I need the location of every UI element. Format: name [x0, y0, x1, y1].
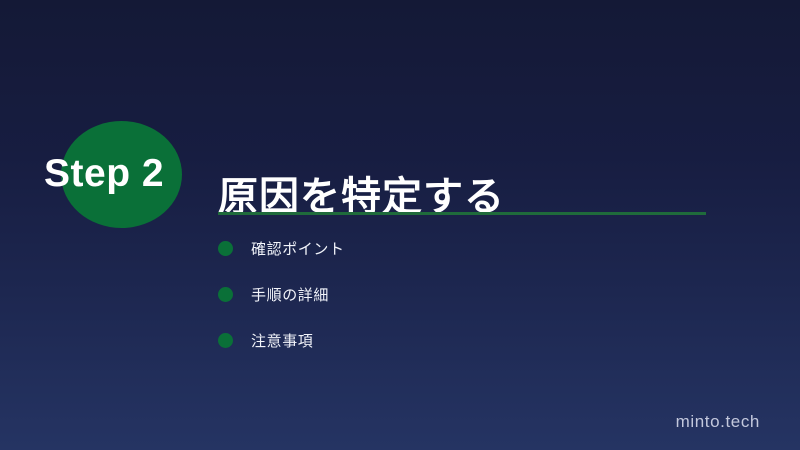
title-divider [218, 212, 706, 215]
footer-brand: minto.tech [676, 412, 760, 432]
bullet-dot-icon [218, 241, 233, 256]
list-item-label: 注意事項 [251, 330, 313, 351]
bullet-dot-icon [218, 333, 233, 348]
list-item: 手順の詳細 [218, 279, 345, 309]
bullet-list: 確認ポイント 手順の詳細 注意事項 [218, 233, 345, 371]
page-title: 原因を特定する [218, 170, 505, 224]
step-number-label: Step 2 [44, 150, 204, 198]
slide-canvas: Step 2 原因を特定する 確認ポイント 手順の詳細 注意事項 minto.t… [0, 0, 800, 450]
list-item-label: 手順の詳細 [251, 284, 329, 305]
list-item-label: 確認ポイント [251, 238, 345, 259]
bullet-dot-icon [218, 287, 233, 302]
list-item: 確認ポイント [218, 233, 345, 263]
list-item: 注意事項 [218, 325, 345, 355]
